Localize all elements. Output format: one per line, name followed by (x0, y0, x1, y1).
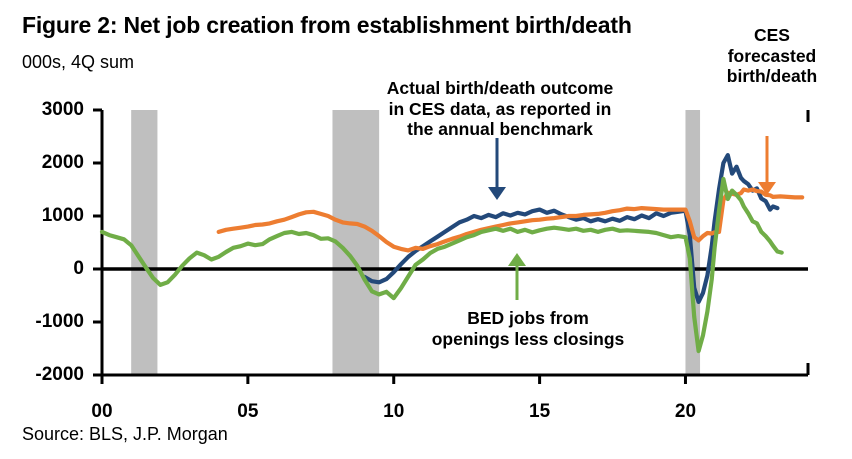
y-axis-tick-label: 0 (0, 258, 84, 280)
y-axis-tick-label: 1000 (0, 205, 84, 227)
annotation-green-series: BED jobs from openings less closings (400, 308, 656, 349)
arrow-to-blue-series (488, 138, 506, 200)
x-axis-tick-label: 15 (529, 401, 550, 423)
x-axis-tick-label: 00 (91, 401, 112, 423)
arrow-to-green-series (508, 253, 526, 300)
figure-title: Figure 2: Net job creation from establis… (22, 12, 632, 39)
annotation-blue-series: Actual birth/death outcome in CES data, … (352, 78, 648, 140)
x-axis-tick-label: 20 (675, 401, 696, 423)
y-axis-tick-label: 3000 (0, 99, 84, 121)
annotation-orange-series: CES forecasted birth/death (706, 25, 838, 87)
y-axis-labels: 3000200010000-1000-2000 (0, 0, 84, 459)
arrow-to-orange-series (758, 136, 776, 195)
x-axis-tick-label: 05 (237, 401, 258, 423)
y-axis-tick-label: 2000 (0, 152, 84, 174)
figure-container: Figure 2: Net job creation from establis… (0, 0, 852, 459)
y-axis-tick-label: -2000 (0, 364, 84, 386)
y-axis-tick-label: -1000 (0, 311, 84, 333)
x-axis-tick-label: 10 (383, 401, 404, 423)
x-axis-labels: 0005101520 (0, 393, 852, 423)
